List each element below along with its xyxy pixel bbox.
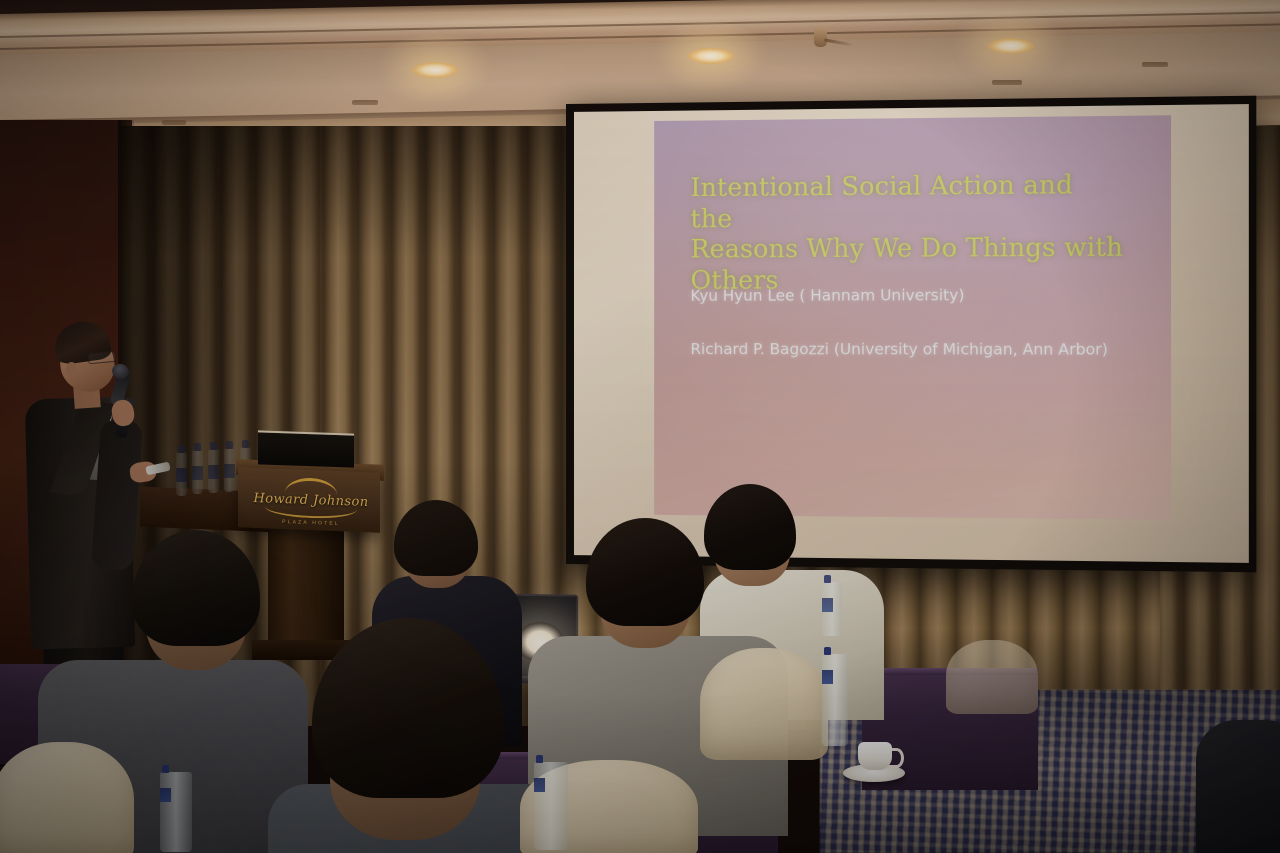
projection-screen-surface: Intentional Social Action and the Reason…: [574, 104, 1249, 563]
chair-foreground-left[interactable]: [0, 742, 134, 853]
water-bottle-table-back[interactable]: [822, 582, 842, 636]
chair-back-right[interactable]: [946, 640, 1038, 714]
chair-mid-right[interactable]: [700, 648, 828, 760]
lectern-column: [268, 524, 344, 654]
sprinkler-head-icon: [814, 28, 827, 47]
slide-title: Intentional Social Action and the Reason…: [690, 169, 1124, 295]
audience-far-right-body: [1196, 720, 1280, 853]
water-bottle-foreground-left[interactable]: [160, 772, 192, 852]
hotel-logo-arc-icon: [285, 477, 337, 495]
water-bottle-table-right[interactable]: [822, 654, 848, 746]
downlight-2-icon: [688, 48, 734, 64]
presenter-ear: [66, 362, 77, 377]
projection-screen: Intentional Social Action and the Reason…: [566, 96, 1256, 573]
slide-author-1: Kyu Hyun Lee ( Hannam University): [690, 286, 1166, 305]
presentation-slide: Intentional Social Action and the Reason…: [654, 115, 1171, 519]
slide-title-line-2: Reasons Why We Do Things with: [690, 232, 1124, 265]
slide-title-line-1: Intentional Social Action and the: [690, 169, 1124, 234]
coffee-cup[interactable]: [858, 742, 892, 770]
water-bottle-head-3: [208, 449, 219, 493]
downlight-1-icon: [412, 62, 458, 78]
ceiling-vent-1: [992, 80, 1022, 85]
conference-room-photo: Intentional Social Action and the Reason…: [0, 0, 1280, 853]
water-bottle-foreground-center[interactable]: [534, 762, 568, 850]
water-bottle-head-4: [224, 448, 235, 492]
hotel-logo: Howard Johnson PLAZA HOTEL: [252, 476, 370, 516]
lectern-monitor: [258, 430, 354, 467]
downlight-3-icon: [988, 38, 1034, 54]
ceiling-vent-2: [1142, 62, 1168, 67]
ceiling-vent-3: [352, 100, 378, 105]
ceiling-vent-4: [162, 120, 186, 125]
water-bottle-head-1: [176, 452, 187, 496]
slide-author-2: Richard P. Bagozzi (University of Michig…: [690, 340, 1166, 359]
water-bottle-head-2: [192, 450, 203, 494]
